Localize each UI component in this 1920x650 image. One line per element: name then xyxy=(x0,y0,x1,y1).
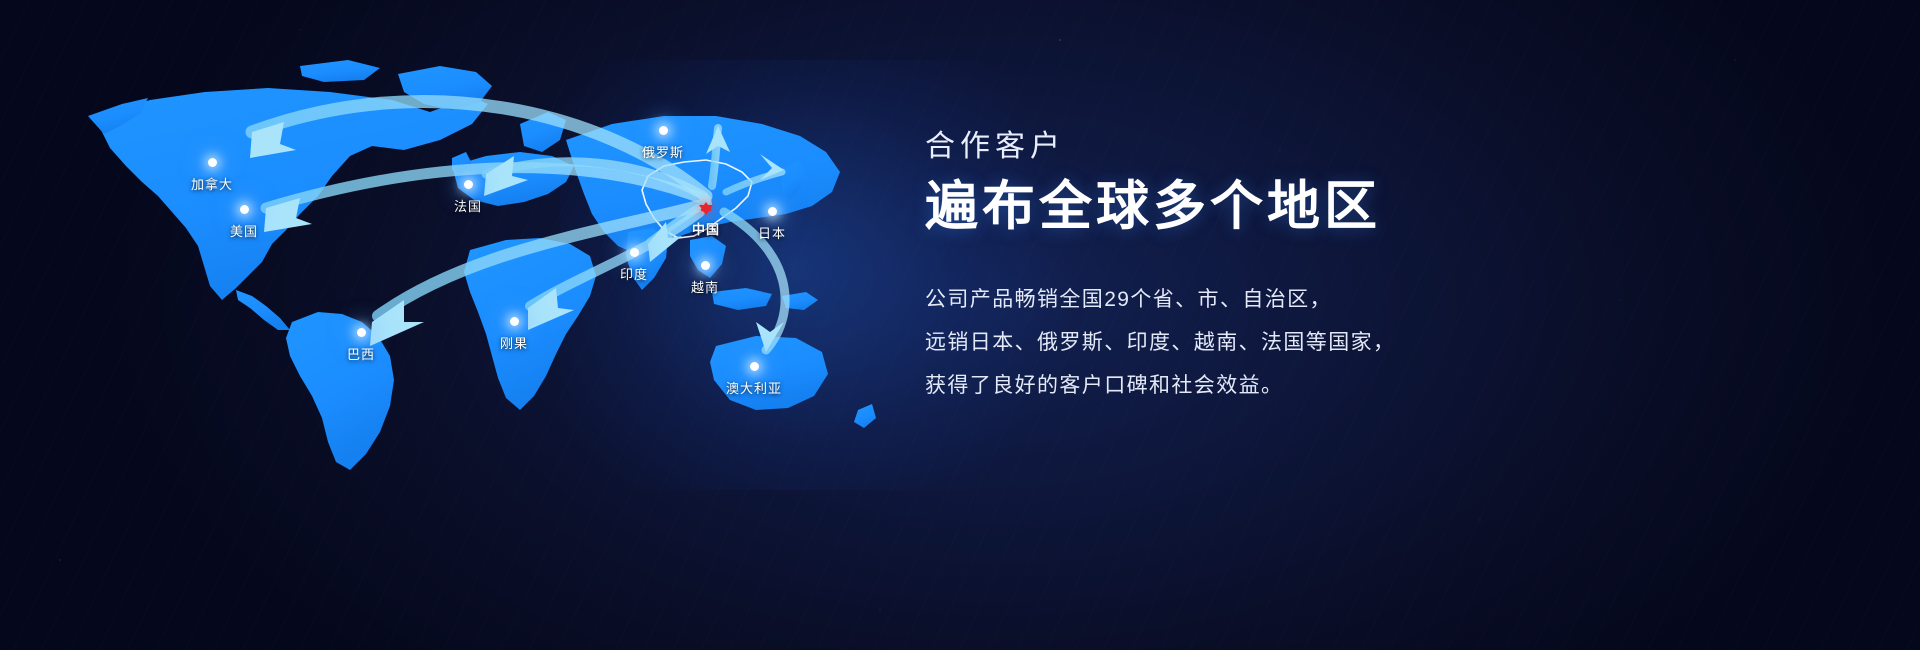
map-marker-8[interactable]: 越南 xyxy=(691,261,719,296)
map-marker-6[interactable]: 日本 xyxy=(758,207,786,242)
white-dot-icon xyxy=(239,205,248,214)
white-dot-icon xyxy=(463,180,472,189)
map-location-label: 中国 xyxy=(692,219,720,238)
world-map-banner: 加拿大美国巴西法国俄罗斯中国日本印度越南刚果澳大利亚 合作客户 遍布全球多个地区… xyxy=(0,0,1920,650)
white-dot-icon xyxy=(629,248,638,257)
world-map: 加拿大美国巴西法国俄罗斯中国日本印度越南刚果澳大利亚 xyxy=(0,0,960,650)
description-line: 公司产品畅销全国29个省、市、自治区， xyxy=(925,278,1825,321)
white-dot-icon xyxy=(767,207,776,216)
map-marker-3[interactable]: 法国 xyxy=(454,180,482,215)
map-marker-1[interactable]: 美国 xyxy=(230,205,258,240)
map-marker-10[interactable]: 澳大利亚 xyxy=(726,362,782,397)
map-location-label: 巴西 xyxy=(347,344,375,363)
map-location-label: 日本 xyxy=(758,223,786,242)
map-marker-2[interactable]: 巴西 xyxy=(347,328,375,363)
map-location-label: 越南 xyxy=(691,277,719,296)
map-marker-4[interactable]: 俄罗斯 xyxy=(642,126,684,161)
white-dot-icon xyxy=(207,158,216,167)
red-star-icon xyxy=(699,202,713,212)
arrow-head-brazil xyxy=(370,300,424,346)
white-dot-icon xyxy=(700,261,709,270)
map-location-label: 刚果 xyxy=(500,333,528,352)
map-location-label: 印度 xyxy=(620,264,648,283)
map-location-label: 加拿大 xyxy=(191,174,233,193)
banner-eyebrow: 合作客户 xyxy=(925,130,1825,163)
map-location-label: 澳大利亚 xyxy=(726,378,782,397)
map-location-label: 美国 xyxy=(230,221,258,240)
description-line: 远销日本、俄罗斯、印度、越南、法国等国家， xyxy=(925,321,1825,364)
banner-text-panel: 合作客户 遍布全球多个地区 公司产品畅销全国29个省、市、自治区， 远销日本、俄… xyxy=(925,130,1825,408)
map-location-label: 法国 xyxy=(454,196,482,215)
white-dot-icon xyxy=(658,126,667,135)
white-dot-icon xyxy=(356,328,365,337)
banner-headline: 遍布全球多个地区 xyxy=(925,177,1825,236)
white-dot-icon xyxy=(509,317,518,326)
map-marker-7[interactable]: 印度 xyxy=(620,248,648,283)
map-marker-0[interactable]: 加拿大 xyxy=(191,158,233,193)
white-dot-icon xyxy=(749,362,758,371)
world-map-graphic xyxy=(0,0,960,650)
banner-description: 公司产品畅销全国29个省、市、自治区， 远销日本、俄罗斯、印度、越南、法国等国家… xyxy=(925,278,1825,407)
map-marker-5[interactable]: 中国 xyxy=(692,202,720,238)
description-line: 获得了良好的客户口碑和社会效益。 xyxy=(925,364,1825,407)
map-marker-9[interactable]: 刚果 xyxy=(500,317,528,352)
map-location-label: 俄罗斯 xyxy=(642,142,684,161)
